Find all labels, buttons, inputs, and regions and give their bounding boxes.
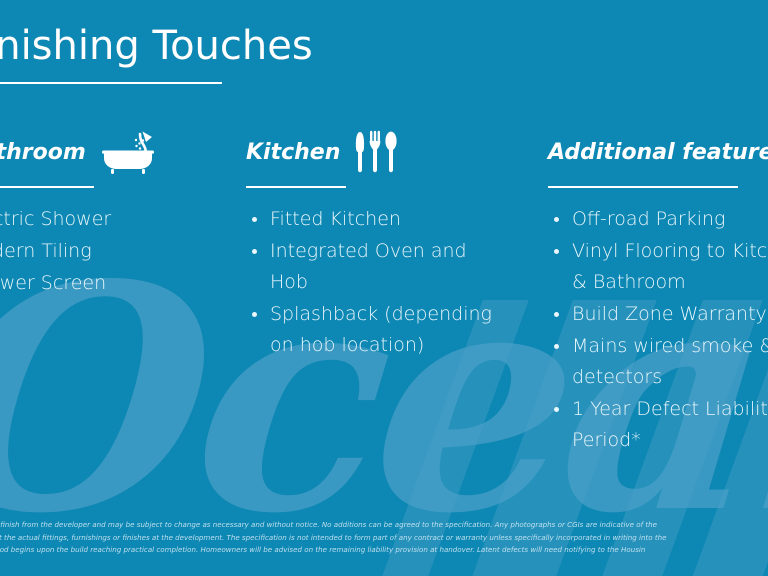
section-underline-additional [548, 186, 738, 188]
section-header-bathroom: Bathroom [0, 126, 194, 180]
section-underline-bathroom [0, 186, 94, 188]
page-title: Finishing Touches [0, 24, 264, 68]
section-header-kitchen: Kitchen [246, 126, 496, 180]
list-item: Build Zone Warranty [548, 299, 768, 330]
section-bathroom: Bathroom E [0, 126, 194, 300]
disclaimer-line: liability period begins upon the build r… [0, 544, 768, 556]
bathtub-shower-icon [100, 126, 156, 180]
section-title-additional: Additional features [548, 126, 768, 165]
feature-list-additional: Off-road Parking Vinyl Flooring to Kitch… [548, 204, 768, 456]
section-title-kitchen: Kitchen [246, 126, 340, 165]
list-item: Electric Shower [0, 204, 194, 235]
disclaimer-footnote: anticipated finish from the developer an… [0, 519, 768, 556]
list-item: Modern Tiling [0, 236, 194, 267]
list-item: Fitted Kitchen [246, 204, 496, 235]
list-item: Shower Screen [0, 268, 194, 299]
list-item: Integrated Oven and Hob [246, 236, 496, 298]
cutlery-icon [354, 126, 398, 180]
title-underline [0, 82, 222, 84]
list-item: 1 Year Defect Liability Period* [548, 394, 768, 456]
list-item: Splashback (depending on hob location) [246, 299, 496, 361]
section-additional-features: Additional features Off-road Parking Vin… [548, 126, 768, 457]
page-title-block: Finishing Touches [0, 24, 264, 84]
section-title-bathroom: Bathroom [0, 126, 86, 165]
section-underline-kitchen [246, 186, 346, 188]
section-kitchen: Kitchen Fitted Kitchen Integrated Oven a… [246, 126, 496, 362]
disclaimer-line: anticipated finish from the developer an… [0, 519, 768, 531]
section-header-additional: Additional features [548, 126, 768, 180]
list-item: Vinyl Flooring to Kitchen & Bathroom [548, 236, 768, 298]
list-item: Mains wired smoke & CO detectors [548, 331, 768, 393]
disclaimer-line: ot represent the actual fittings, furnis… [0, 532, 768, 544]
feature-list-kitchen: Fitted Kitchen Integrated Oven and Hob S… [246, 204, 496, 361]
feature-list-bathroom: Electric Shower Modern Tiling Shower Scr… [0, 204, 194, 299]
list-item: Off-road Parking [548, 204, 768, 235]
